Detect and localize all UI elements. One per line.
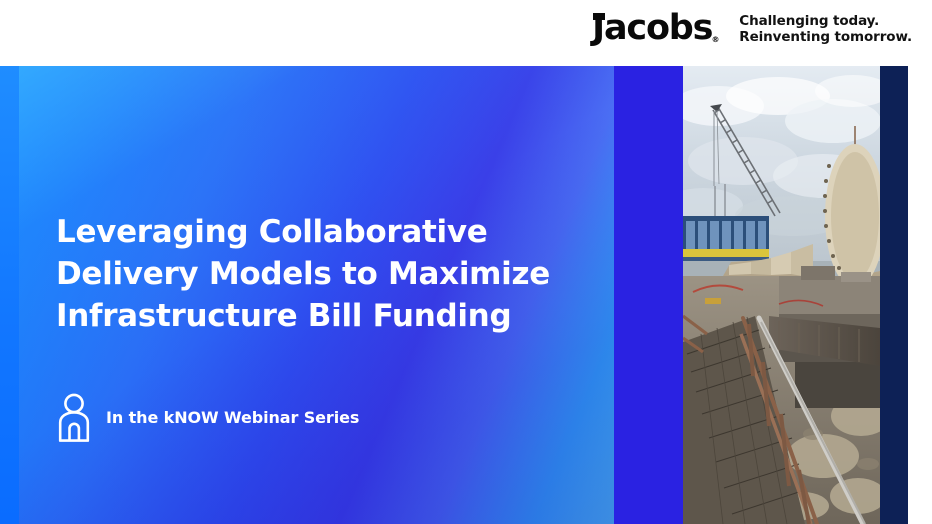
blue-divider-band xyxy=(614,66,683,524)
page-header: Jacobs ® Challenging today. Reinventing … xyxy=(0,0,932,66)
hero-photo xyxy=(683,66,880,524)
photo-illustration xyxy=(683,66,880,524)
jacobs-wordmark: Jacobs xyxy=(592,8,712,48)
logo-j-bar xyxy=(593,13,605,20)
brand-tagline: Challenging today. Reinventing tomorrow. xyxy=(739,13,912,45)
registered-mark: ® xyxy=(711,36,718,44)
navy-accent-strip xyxy=(880,66,908,524)
hero-content: Leveraging Collaborative Delivery Models… xyxy=(56,211,574,442)
right-white-margin xyxy=(908,66,932,524)
jacobs-logo: Jacobs ® xyxy=(592,11,717,46)
tagline-line-2: Reinventing tomorrow. xyxy=(739,29,912,45)
series-label-text: In the kNOW Webinar Series xyxy=(106,408,359,427)
page-title: Leveraging Collaborative Delivery Models… xyxy=(56,211,574,337)
person-icon xyxy=(56,392,92,442)
brand-block: Jacobs ® Challenging today. Reinventing … xyxy=(592,11,912,46)
left-accent-strip xyxy=(0,66,19,524)
hero-panel: Leveraging Collaborative Delivery Models… xyxy=(0,66,614,524)
tagline-line-1: Challenging today. xyxy=(739,13,912,29)
webinar-series-label: In the kNOW Webinar Series xyxy=(56,392,574,442)
